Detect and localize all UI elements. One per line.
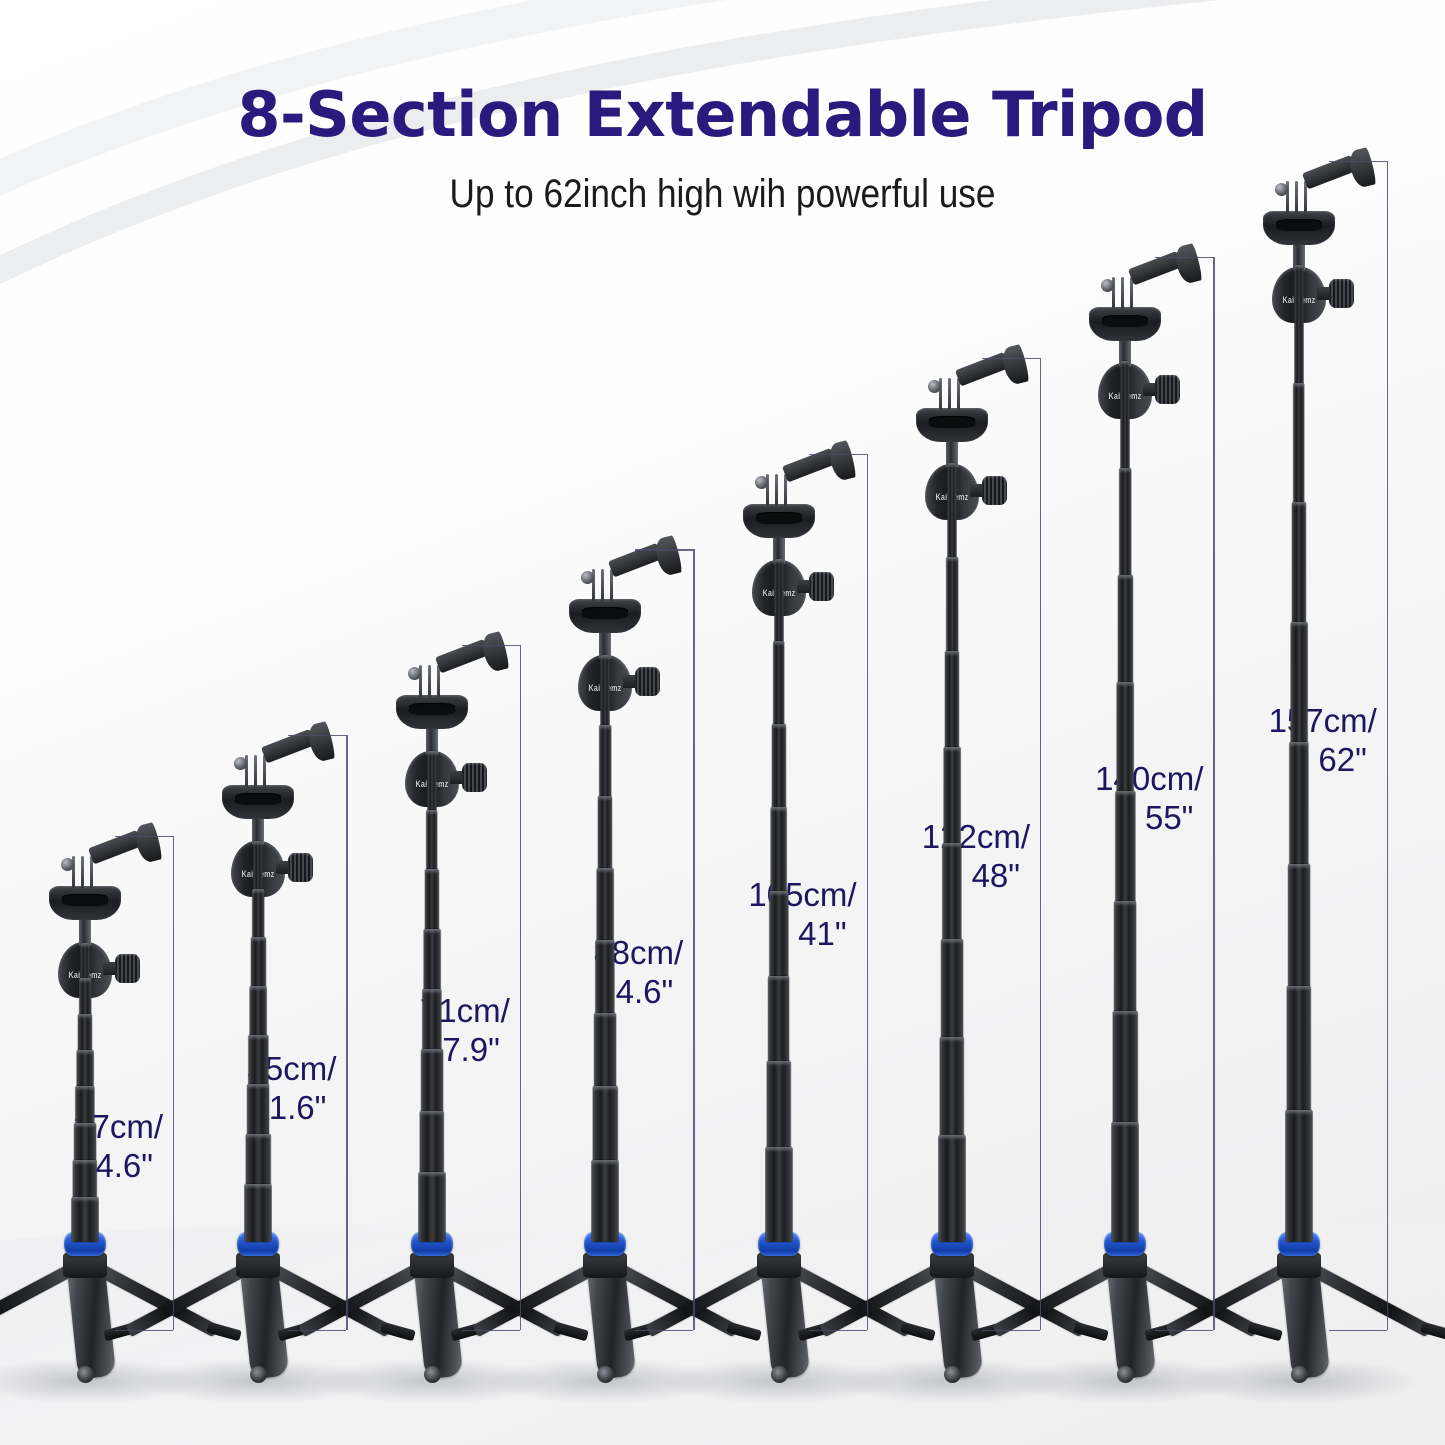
lock-knob[interactable]: [1329, 279, 1354, 308]
dimension-tick-bottom: [115, 1330, 173, 1331]
mast-section: [599, 725, 611, 804]
mast-section: [1287, 986, 1311, 1117]
mast-section: [1118, 575, 1132, 691]
thumbscrew-icon[interactable]: [408, 667, 421, 680]
quick-release-slot: [756, 512, 802, 524]
mast-section: [774, 559, 783, 649]
mast-section: [423, 929, 440, 997]
quick-release-slot: [62, 894, 108, 906]
mast-section: [770, 807, 787, 899]
dimension-rule: [1040, 358, 1041, 1330]
mast-section: [765, 1147, 792, 1242]
mast-section: [1112, 1122, 1139, 1242]
dimension-tick-top: [1329, 161, 1387, 162]
mast-section: [766, 1061, 790, 1155]
mast-section: [245, 1184, 272, 1242]
mast-section: [597, 868, 614, 948]
mast-section: [940, 1037, 964, 1143]
mast-section: [72, 1197, 99, 1242]
dimension-line: [1040, 358, 1041, 1330]
mast-section: [942, 843, 961, 948]
mast-section: [422, 989, 441, 1058]
quick-release-slot: [929, 416, 975, 428]
dimension-tick-top: [288, 735, 346, 736]
tripod-foot-cap: [1291, 1366, 1308, 1383]
dimension-line: [1387, 161, 1388, 1330]
measurement-label: 157cm/62": [1155, 702, 1377, 780]
measurement-cm: 157cm/: [1269, 702, 1377, 739]
mast-section: [1114, 901, 1136, 1019]
dimension-tick-bottom: [635, 1330, 693, 1331]
dimension-tick-bottom: [288, 1330, 346, 1331]
mast-section: [1117, 682, 1134, 799]
tripod-foot-cap: [771, 1366, 788, 1383]
dimension-tick-bottom: [462, 1330, 520, 1331]
mast-section: [1289, 742, 1308, 872]
mast-section: [596, 940, 615, 1021]
measurement-inch: 48": [808, 857, 1030, 896]
tripod-foot-cap: [77, 1366, 94, 1383]
mast-section: [945, 651, 959, 754]
adapter-cup: [1347, 147, 1378, 189]
mast-section: [773, 641, 785, 732]
dimension-tick-top: [982, 358, 1040, 359]
mast-section: [592, 1160, 619, 1242]
dimension-tick-bottom: [1155, 1330, 1213, 1331]
dimension-tick-bottom: [982, 1330, 1040, 1331]
mast-section: [1294, 265, 1303, 391]
thumbscrew-icon[interactable]: [755, 476, 768, 489]
quick-release-slot: [1102, 315, 1148, 327]
mast-section: [768, 976, 790, 1069]
mast-section: [418, 1172, 445, 1242]
mast-section: [1116, 791, 1135, 908]
quick-release-slot: [235, 793, 281, 805]
mast-section: [944, 747, 961, 851]
mast-section: [1120, 468, 1132, 583]
mast-section: [1285, 1110, 1312, 1242]
quick-release-slot: [582, 607, 628, 619]
mast-section: [772, 724, 786, 815]
mast-section: [593, 1086, 617, 1168]
mast-section: [426, 810, 438, 877]
mast-section: [939, 1135, 966, 1242]
mast-section: [1290, 622, 1307, 751]
mast-section: [421, 1049, 443, 1118]
mast-section: [769, 891, 788, 984]
measurement-inch: 62": [1155, 741, 1377, 780]
dimension-tick-bottom: [1329, 1330, 1387, 1331]
mast-section: [946, 557, 958, 660]
measurement-inch: 21.6": [114, 1089, 336, 1128]
mast-section: [427, 751, 436, 818]
tripod-foot-cap: [424, 1366, 441, 1383]
thumbscrew-icon[interactable]: [61, 858, 74, 871]
mast-section: [1288, 864, 1310, 994]
mast-section: [1113, 1011, 1137, 1130]
mast-section: [948, 463, 957, 565]
mast-section: [1293, 383, 1305, 510]
dimension-tick-top: [809, 454, 867, 455]
thumbscrew-icon[interactable]: [1275, 183, 1288, 196]
quick-release-slot: [409, 703, 455, 715]
measurement-inch: 27.9": [288, 1031, 510, 1070]
measurement-inch: 34.6": [461, 973, 683, 1012]
dimension-tick-top: [1155, 257, 1213, 258]
mast-section: [425, 869, 439, 937]
dimension-line: [1213, 257, 1214, 1330]
mast-section: [941, 939, 963, 1044]
mast-section: [598, 796, 612, 876]
measurement-inch: 55": [981, 799, 1203, 838]
thumbscrew-icon[interactable]: [928, 380, 941, 393]
dimension-rule: [1213, 257, 1214, 1330]
dimension-tick-top: [462, 645, 520, 646]
mast-section: [601, 655, 610, 733]
quick-release-slot: [1276, 219, 1322, 231]
thumbscrew-icon[interactable]: [1101, 279, 1114, 292]
head-neck: [79, 918, 91, 946]
mast-section: [420, 1111, 444, 1181]
dimension-rule: [1387, 161, 1388, 1330]
mast-section: [1292, 502, 1306, 630]
mast-section: [1121, 361, 1130, 475]
dimension-tick-top: [635, 549, 693, 550]
tripod-foot-cap: [944, 1366, 961, 1383]
mast-section: [594, 1013, 616, 1094]
dimension-tick-top: [115, 836, 173, 837]
dimension-tick-bottom: [809, 1330, 867, 1331]
measurement-inch: 41": [635, 915, 857, 954]
infographic-canvas: 8-Section Extendable Tripod Up to 62inch…: [0, 0, 1445, 1445]
